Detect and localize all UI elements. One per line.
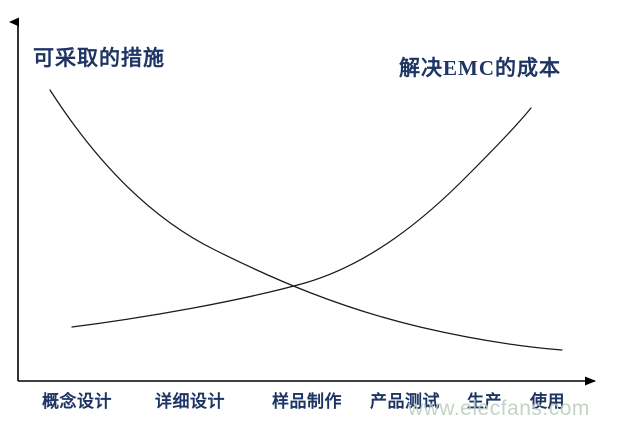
curve-available-measures [50, 90, 562, 350]
curve-emc-cost [72, 108, 531, 327]
x-tick-label-concept-design: 概念设计 [42, 392, 112, 412]
chart-container: 可采取的措施 解决EMC的成本 概念设计 详细设计 样品制作 产品测试 生产 使… [0, 0, 619, 425]
x-tick-label-prototype: 样品制作 [272, 392, 342, 412]
watermark-text: www.elecfans.com [408, 398, 590, 419]
series-label-available-measures: 可采取的措施 [33, 48, 165, 69]
x-tick-label-detailed-design: 详细设计 [155, 392, 225, 412]
series-label-emc-cost: 解决EMC的成本 [399, 58, 561, 79]
